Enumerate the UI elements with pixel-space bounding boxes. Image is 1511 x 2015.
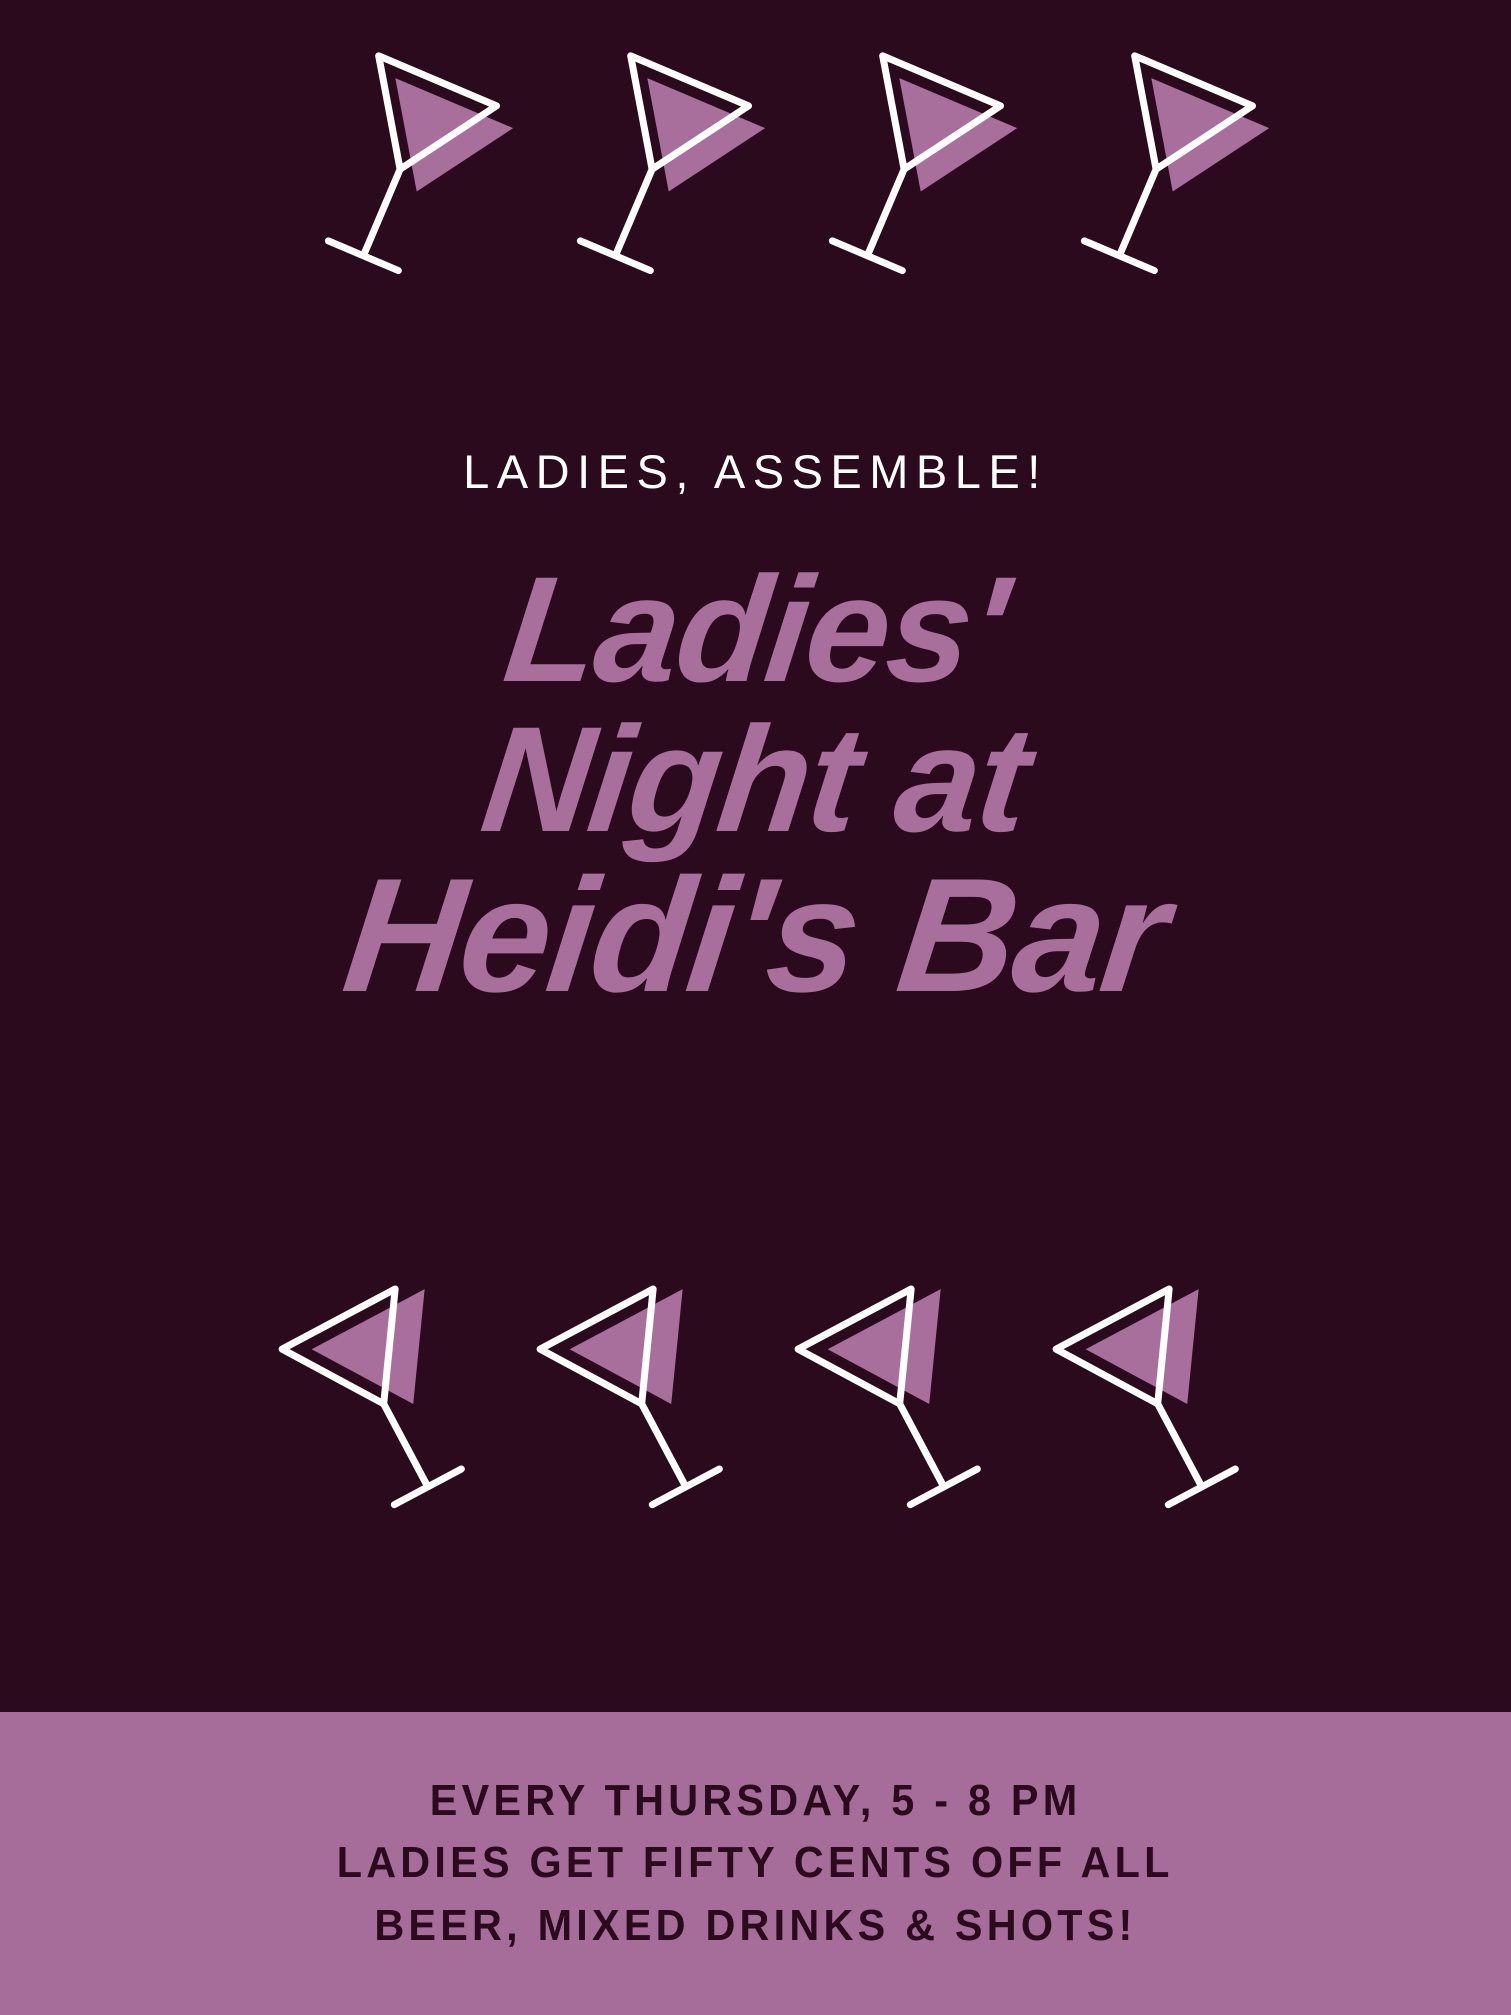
martini-glass-icon	[1060, 40, 1260, 290]
martini-glass-icon	[556, 40, 756, 290]
martini-glass-row-top	[0, 40, 1511, 300]
banner-line-items: BEER, MIXED DRINKS & SHOTS!	[374, 1897, 1136, 1956]
martini-glass-icon	[795, 1275, 995, 1525]
martini-glass-row-bottom	[0, 1275, 1511, 1535]
martini-glass-icon	[279, 1275, 479, 1525]
details-banner: EVERY THURSDAY, 5 - 8 PM LADIES GET FIFT…	[0, 1712, 1511, 2015]
headline-line-2: Night at	[0, 710, 1511, 850]
poster-canvas: LADIES, ASSEMBLE! Ladies' Night at Heidi…	[0, 0, 1511, 2015]
martini-glass-icon	[537, 1275, 737, 1525]
martini-glass-icon	[1053, 1275, 1253, 1525]
page-title: Ladies' Night at Heidi's Bar	[0, 560, 1511, 1012]
martini-glass-icon	[808, 40, 1008, 290]
headline-line-1: Ladies'	[0, 560, 1511, 700]
banner-line-offer: LADIES GET FIFTY CENTS OFF ALL	[337, 1834, 1174, 1893]
headline-line-3: Heidi's Bar	[0, 861, 1511, 1012]
banner-line-schedule: EVERY THURSDAY, 5 - 8 PM	[430, 1772, 1082, 1831]
martini-glass-icon	[304, 40, 504, 290]
poster-tagline: LADIES, ASSEMBLE!	[0, 446, 1511, 498]
